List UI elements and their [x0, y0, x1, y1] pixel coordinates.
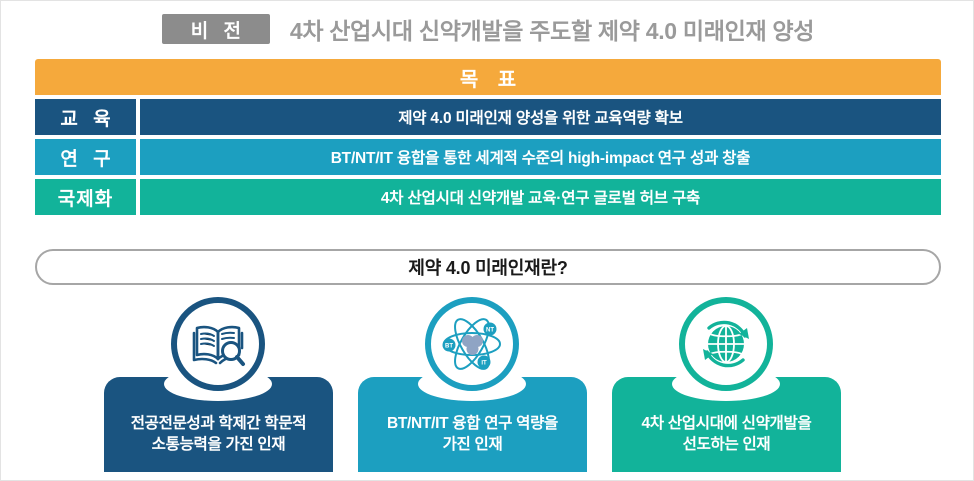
persona-icon-circle-expertise — [171, 297, 265, 391]
persona-card-group: 전공전문성과 학제간 학문적 소통능력을 가진 인재 BT/NT/IT 융합 연… — [1, 297, 974, 477]
goal-row-label: 국제화 — [35, 179, 136, 215]
atom-icon: NT BT IT — [441, 315, 503, 373]
goal-row-internationalization: 국제화 4차 산업시대 신약개발 교육·연구 글로벌 허브 구축 — [35, 179, 941, 215]
goal-row-research: 연 구 BT/NT/IT 융합을 통한 세계적 수준의 high-impact … — [35, 139, 941, 175]
vision-badge: 비 전 — [162, 14, 270, 44]
question-banner: 제약 4.0 미래인재란? — [35, 249, 941, 285]
goal-row-text: 4차 산업시대 신약개발 교육·연구 글로벌 허브 구축 — [140, 179, 941, 215]
persona-card-text: 전공전문성과 학제간 학문적 소통능력을 가진 인재 — [131, 414, 307, 456]
vision-title: 4차 산업시대 신약개발을 주도할 제약 4.0 미래인재 양성 — [290, 12, 814, 46]
vision-header: 비 전 4차 산업시대 신약개발을 주도할 제약 4.0 미래인재 양성 — [1, 7, 974, 51]
infographic-slide: 비 전 4차 산업시대 신약개발을 주도할 제약 4.0 미래인재 양성 목 표… — [0, 0, 974, 481]
book-magnifier-icon — [190, 319, 246, 369]
atom-orbit-label: NT — [486, 328, 494, 334]
persona-icon-circle-convergence: NT BT IT — [425, 297, 519, 391]
atom-orbit-label: BT — [445, 344, 453, 350]
persona-icon-circle-leadership — [679, 297, 773, 391]
persona-card-text: BT/NT/IT 융합 연구 역량을 가진 인재 — [387, 414, 558, 456]
goal-row-education: 교 육 제약 4.0 미래인재 양성을 위한 교육역량 확보 — [35, 99, 941, 135]
globe-arrows-icon — [697, 316, 755, 372]
persona-card-text: 4차 산업시대에 신약개발을 선도하는 인재 — [642, 414, 812, 456]
goal-row-label: 연 구 — [35, 139, 136, 175]
atom-orbit-label: IT — [481, 361, 487, 367]
goal-table: 목 표 교 육 제약 4.0 미래인재 양성을 위한 교육역량 확보 연 구 B… — [35, 59, 941, 215]
goal-row-text: 제약 4.0 미래인재 양성을 위한 교육역량 확보 — [140, 99, 941, 135]
goal-row-label: 교 육 — [35, 99, 136, 135]
goal-table-header: 목 표 — [35, 59, 941, 95]
goal-row-text: BT/NT/IT 융합을 통한 세계적 수준의 high-impact 연구 성… — [140, 139, 941, 175]
